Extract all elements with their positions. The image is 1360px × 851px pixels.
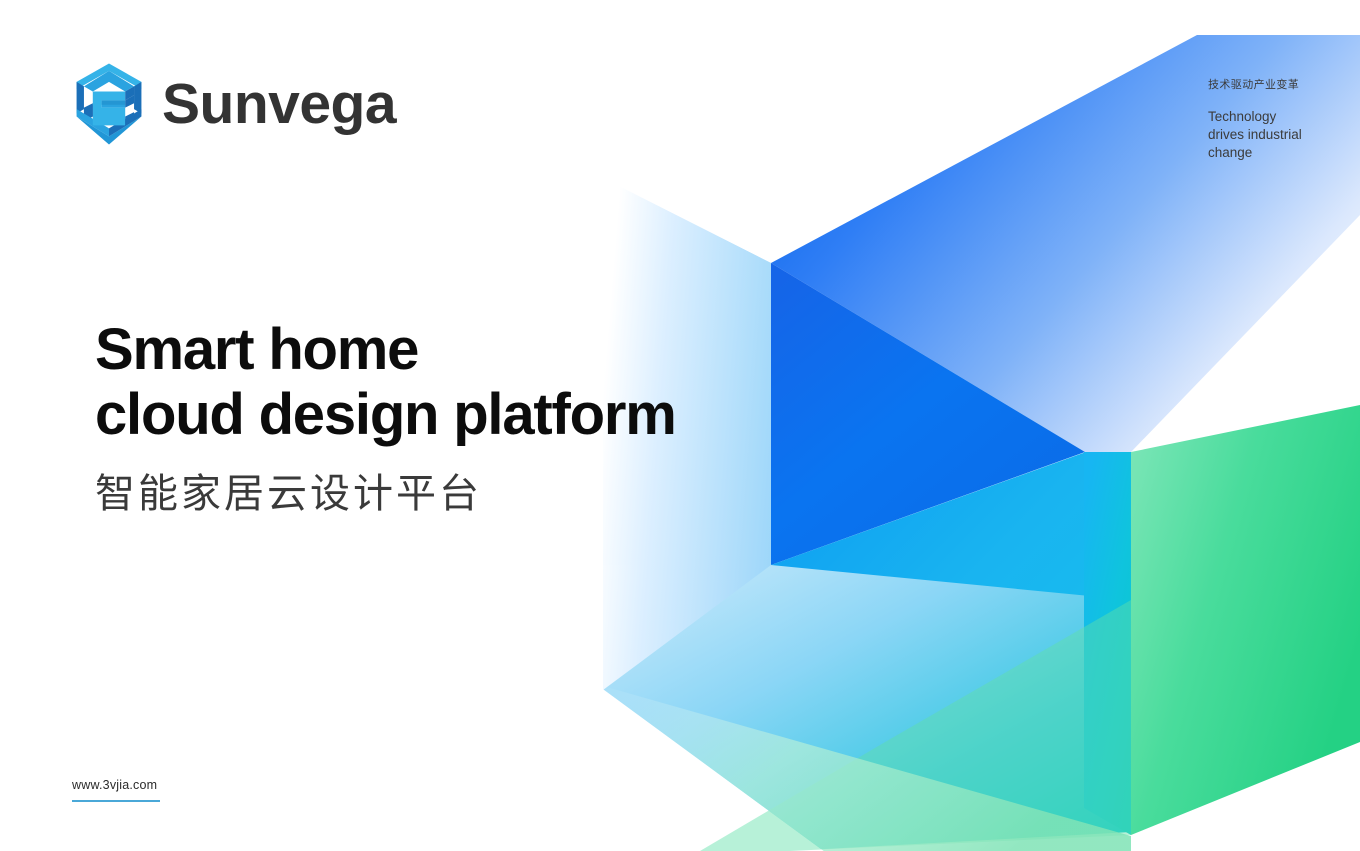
shape-cyan-top-slab [771,452,1131,745]
headline-line-2: cloud design platform [95,383,715,448]
shape-white-wedge-lower-left [596,684,836,851]
tagline-block: 技术驱动产业变革 Technology drives industrial ch… [1208,78,1358,162]
brand-wordmark: Sunvega [162,76,396,133]
shape-blue-arrow-face [771,263,1085,565]
page-title: Smart home cloud design platform 智能家居云设计… [95,318,715,518]
tagline-english-line1: Technology [1208,108,1358,126]
headline-line-1: Smart home [95,318,715,383]
tagline-english: Technology drives industrial change [1208,108,1358,161]
brand-logo-lockup[interactable]: Sunvega [72,62,396,146]
tagline-chinese: 技术驱动产业变革 [1208,78,1358,92]
shape-green-overlap-wash [700,600,1131,851]
shape-lower-mass [603,565,1131,851]
tagline-english-line3: change [1208,144,1358,162]
shape-green-panel [1131,405,1360,835]
footer-url-text[interactable]: www.3vjia.com [72,778,160,792]
footer-url-block[interactable]: www.3vjia.com [72,778,160,802]
shape-cyan-right-edge [1084,452,1131,835]
footer-underline-rule [72,800,160,802]
tagline-english-line2: drives industrial [1208,126,1358,144]
shape-left-pale-wall-lower [603,565,771,700]
shape-mint-fade [596,684,1131,851]
slide-canvas: Sunvega 技术驱动产业变革 Technology drives indus… [0,0,1360,851]
isometric-3-cube-logo-icon [72,62,146,146]
headline-subtitle-chinese: 智能家居云设计平台 [95,470,715,518]
